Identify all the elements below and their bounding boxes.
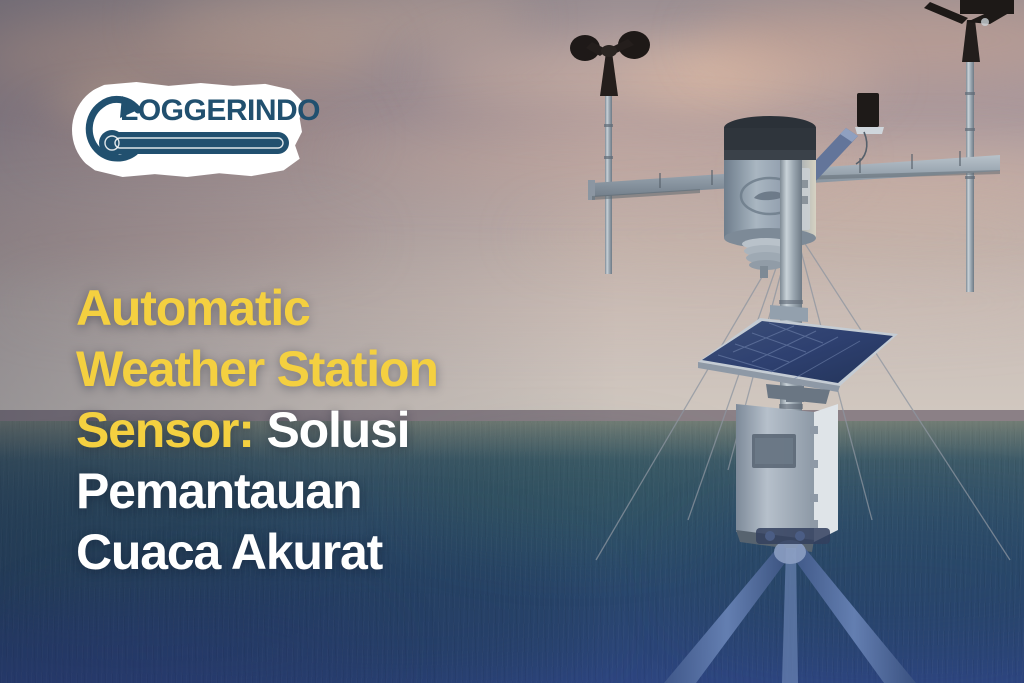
- page-title: Automatic Weather Station Sensor: Solusi…: [76, 278, 606, 583]
- headline-line-3-text: Solusi: [266, 402, 409, 458]
- sun-glow-right: [600, 20, 820, 130]
- brand-logo[interactable]: LOGGERINDO: [72, 82, 302, 178]
- cloud-band: [520, 210, 1024, 262]
- headline-line-4: Pemantauan: [76, 461, 606, 522]
- cloud-band: [0, 210, 370, 268]
- headline-line-4-text: Pemantauan: [76, 463, 361, 519]
- headline-line-2-text: Weather Station: [76, 341, 438, 397]
- headline-line-3: Sensor: Solusi: [76, 400, 606, 461]
- cloud-band: [760, 150, 1024, 210]
- headline-line-5-text: Cuaca Akurat: [76, 524, 382, 580]
- headline-line-5: Cuaca Akurat: [76, 522, 606, 583]
- headline-accent-text: Sensor:: [76, 402, 254, 458]
- hero-banner: LOGGERINDO Automatic Weather Station Sen…: [0, 0, 1024, 683]
- headline-line-1-text: Automatic: [76, 280, 310, 336]
- cloud-band: [150, 0, 530, 50]
- headline-line-2: Weather Station: [76, 339, 606, 400]
- cloud-band: [330, 130, 850, 186]
- headline-line-1: Automatic: [76, 278, 606, 339]
- thermometer-icon: [99, 130, 291, 156]
- logo-wordmark: LOGGERINDO: [120, 96, 296, 126]
